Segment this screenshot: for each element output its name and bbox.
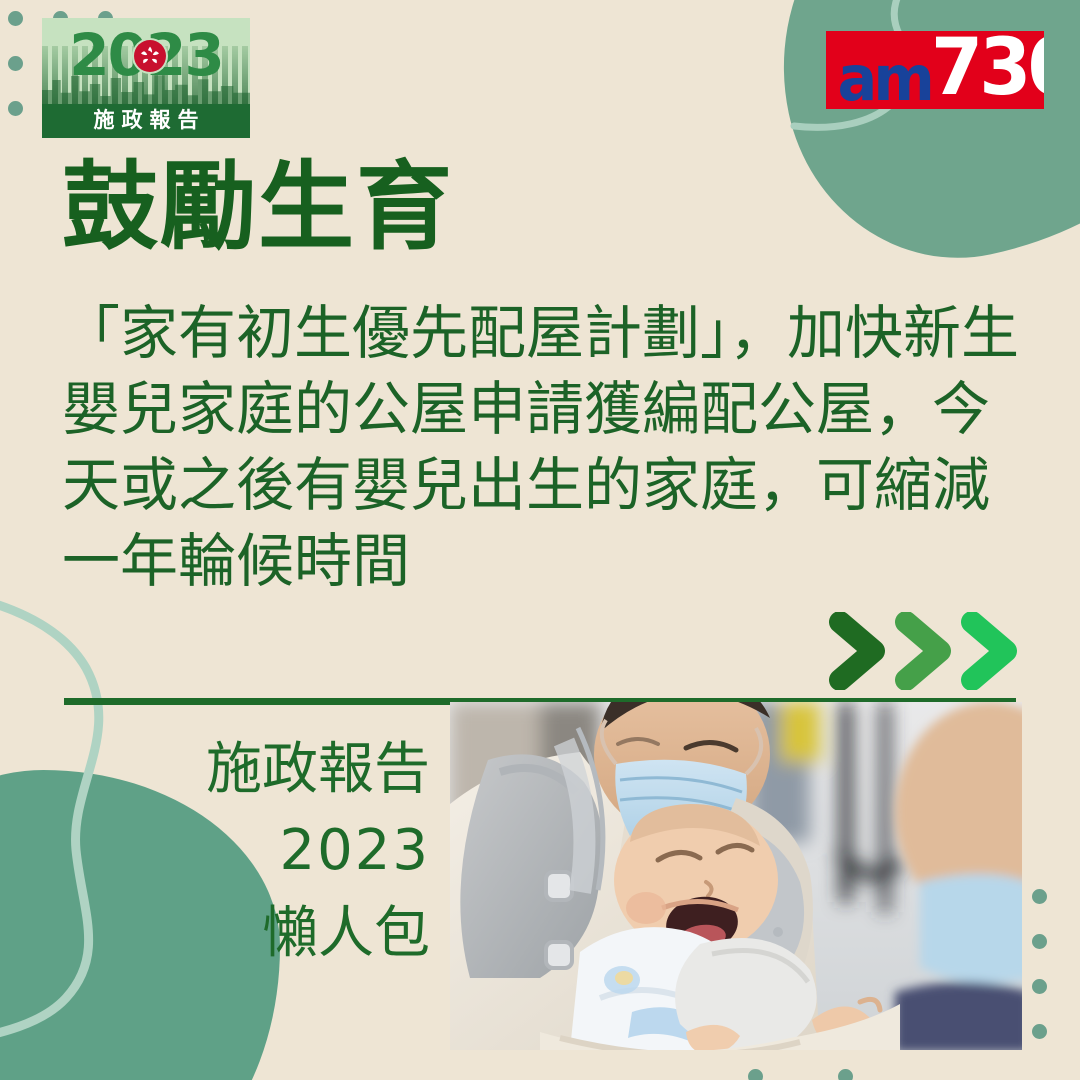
chevron-group [826, 612, 1036, 690]
am730-number: 730 [931, 31, 1044, 107]
chevron-right-icon-3 [958, 612, 1030, 690]
infographic-card: 2023 施政報告 am 730 鼓勵生育 「家有初生優先配屋計劃」，加快新生嬰… [0, 0, 1080, 1080]
caption-line-2: 2023 [120, 810, 430, 892]
bauhinia-emblem-icon [134, 40, 166, 72]
page-title: 鼓勵生育 [62, 160, 454, 256]
logo-caption: 施政報告 [42, 104, 250, 138]
am730-logo[interactable]: am 730 [826, 31, 1044, 109]
series-caption: 施政報告 2023 懶人包 [120, 728, 430, 974]
chevron-right-icon-2 [892, 612, 964, 690]
policy-address-2023-logo: 2023 施政報告 [42, 18, 250, 138]
caption-line-1: 施政報告 [120, 728, 430, 810]
photo-mother-and-baby [450, 702, 1022, 1050]
body-text: 「家有初生優先配屋計劃」，加快新生嬰兒家庭的公屋申請獲編配公屋，今天或之後有嬰兒… [62, 296, 1032, 600]
caption-line-3: 懶人包 [120, 892, 430, 974]
chevron-right-icon-1 [826, 612, 898, 690]
am730-prefix: am [837, 48, 931, 109]
